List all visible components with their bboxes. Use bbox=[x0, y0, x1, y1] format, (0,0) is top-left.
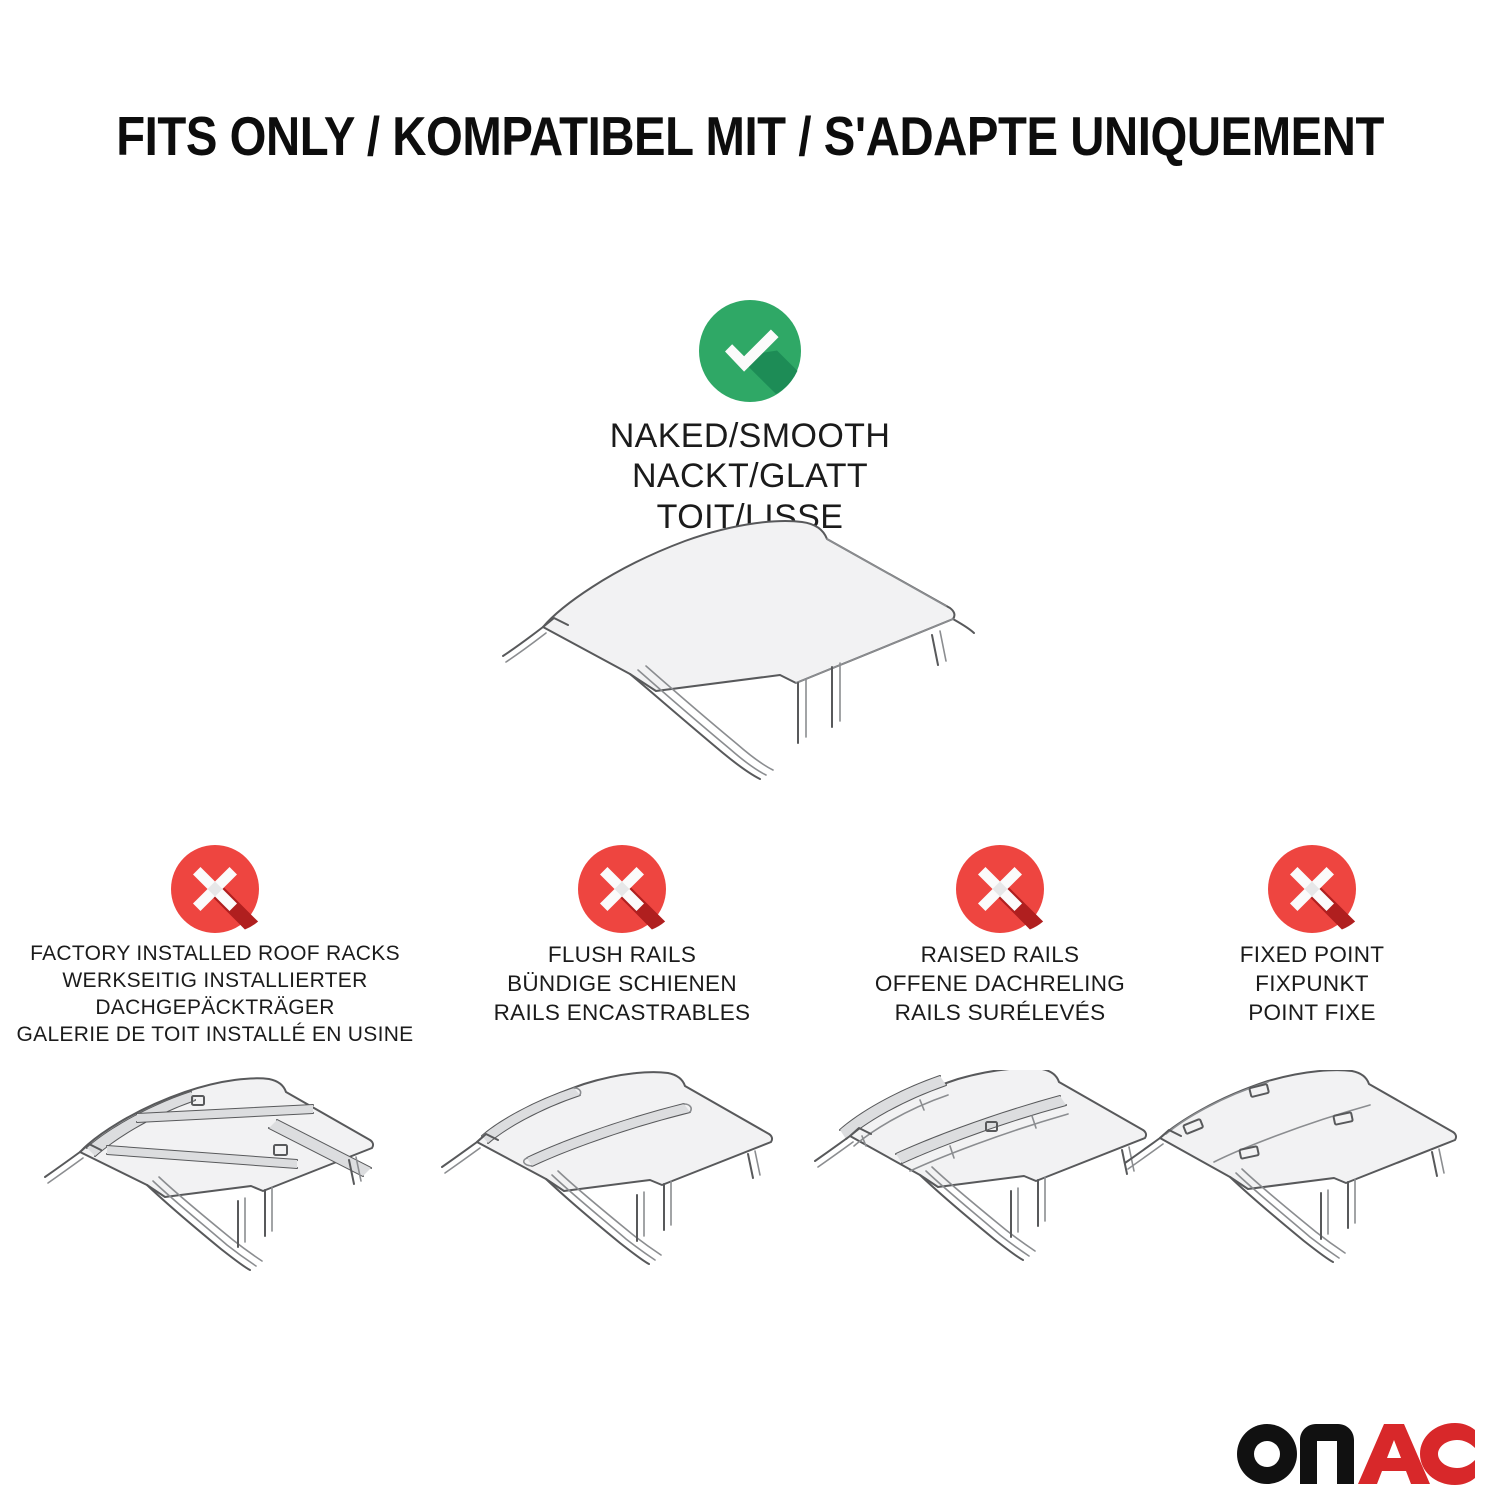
approved-label-line-en: NAKED/SMOOTH bbox=[470, 416, 1030, 456]
roof-type-label: FLUSH RAILS BÜNDIGE SCHIENEN RAILS ENCAS… bbox=[422, 941, 822, 1027]
x-circle-icon bbox=[171, 845, 259, 933]
label-line-de: FIXPUNKT bbox=[1112, 970, 1500, 999]
factory-roof-rack-illustration bbox=[25, 1070, 405, 1285]
label-line-de: BÜNDIGE SCHIENEN bbox=[422, 970, 822, 999]
x-circle-icon bbox=[578, 845, 666, 933]
check-circle-icon bbox=[699, 300, 801, 402]
roof-type-label: FACTORY INSTALLED ROOF RACKS WERKSEITIG … bbox=[15, 941, 415, 1049]
page-title: FITS ONLY / KOMPATIBEL MIT / S'ADAPTE UN… bbox=[116, 108, 1384, 166]
bare-car-roof-illustration bbox=[480, 515, 1020, 805]
roof-type-label: FIXED POINT FIXPUNKT POINT FIXE bbox=[1112, 941, 1500, 1027]
label-line-de-2: DACHGEPÄCKTRÄGER bbox=[15, 995, 415, 1022]
incompatible-roof-types-row: FACTORY INSTALLED ROOF RACKS WERKSEITIG … bbox=[0, 845, 1500, 1305]
x-circle-icon bbox=[1268, 845, 1356, 933]
x-circle-icon bbox=[956, 845, 1044, 933]
label-line-fr: RAILS ENCASTRABLES bbox=[422, 999, 822, 1028]
fixed-point-illustration bbox=[1122, 1070, 1500, 1285]
label-line-fr: GALERIE DE TOIT INSTALLÉ EN USINE bbox=[15, 1022, 415, 1049]
roof-type-factory-racks: FACTORY INSTALLED ROOF RACKS WERKSEITIG … bbox=[15, 845, 415, 1049]
approved-label-line-de: NACKT/GLATT bbox=[470, 456, 1030, 496]
roof-type-fixed-point: FIXED POINT FIXPUNKT POINT FIXE bbox=[1112, 845, 1500, 1027]
label-line-fr: POINT FIXE bbox=[1112, 999, 1500, 1028]
roof-type-flush-rails: FLUSH RAILS BÜNDIGE SCHIENEN RAILS ENCAS… bbox=[422, 845, 822, 1027]
label-line-en: FLUSH RAILS bbox=[422, 941, 822, 970]
omac-logo bbox=[1232, 1408, 1477, 1486]
label-line-en: FIXED POINT bbox=[1112, 941, 1500, 970]
flush-rails-illustration bbox=[432, 1070, 812, 1285]
approved-roof-type-block: NAKED/SMOOTH NACKT/GLATT TOIT/LISSE bbox=[470, 300, 1030, 537]
title-bar: FITS ONLY / KOMPATIBEL MIT / S'ADAPTE UN… bbox=[0, 108, 1500, 166]
label-line-de-1: WERKSEITIG INSTALLIERTER bbox=[15, 968, 415, 995]
label-line-en: FACTORY INSTALLED ROOF RACKS bbox=[15, 941, 415, 968]
